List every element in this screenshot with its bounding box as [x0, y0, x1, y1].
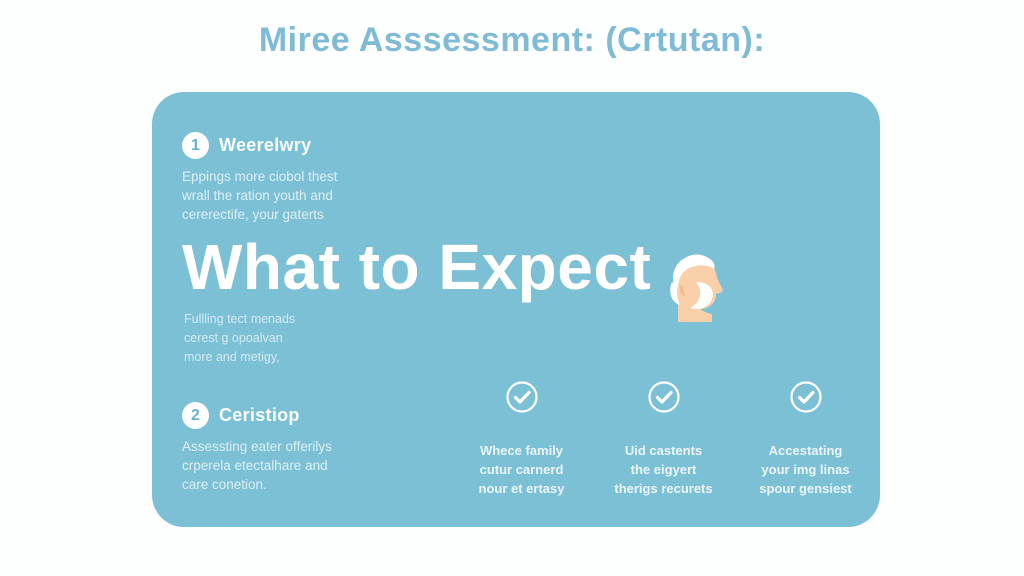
- feature-item-1: Whece family cutur carnerd nour et ertas…: [464, 380, 579, 499]
- hero-headline: What to Expect: [182, 235, 651, 299]
- hero-subtext-line-1: Fullling tect menads: [184, 310, 295, 329]
- feature-item-1-line-3: nour et ertasy: [464, 480, 579, 499]
- number-badge-1: 1: [182, 132, 209, 159]
- numbered-item-1-line-1: Eppings more ciobol thest: [182, 167, 397, 186]
- feature-item-3: Accestating your img linas spour gensies…: [748, 380, 863, 499]
- numbered-item-2-line-1: Assessting eater offerilys: [182, 437, 397, 456]
- hero-subtext-line-2: cerest g opoalvan: [184, 329, 295, 348]
- feature-item-3-line-1: Accestating: [748, 442, 863, 461]
- numbered-item-1-line-3: cererectife, your gaterts: [182, 205, 397, 224]
- feature-item-2: Uid castents the eigyert therigs recuret…: [606, 380, 721, 499]
- feature-item-1-line-2: cutur carnerd: [464, 461, 579, 480]
- numbered-item-1-body: Eppings more ciobol thest wrall the rati…: [182, 167, 397, 224]
- numbered-item-2: 2 Ceristiop Assessting eater offerilys c…: [182, 402, 432, 494]
- numbered-item-2-line-3: care conetion.: [182, 475, 397, 494]
- numbered-item-2-header: 2 Ceristiop: [182, 402, 432, 429]
- numbered-item-2-title: Ceristiop: [219, 405, 300, 426]
- numbered-item-1: 1 Weerelwry Eppings more ciobol thest wr…: [182, 132, 432, 224]
- check-circle-icon: [505, 380, 539, 414]
- main-card: 1 Weerelwry Eppings more ciobol thest wr…: [152, 92, 880, 527]
- infographic-page: Miree Asssessment: (Crtutan): 1 Weerelwr…: [0, 0, 1024, 576]
- page-title: Miree Asssessment: (Crtutan):: [0, 20, 1024, 61]
- numbered-item-1-title: Weerelwry: [219, 135, 311, 156]
- feature-item-3-icon-wrap: [748, 380, 863, 414]
- check-circle-icon: [647, 380, 681, 414]
- hero-subtext-line-3: more and metigy,: [184, 348, 295, 367]
- feature-item-3-line-2: your img linas: [748, 461, 863, 480]
- feature-item-2-icon-wrap: [606, 380, 721, 414]
- senior-head-profile-icon: [650, 242, 740, 332]
- numbered-item-1-line-2: wrall the ration youth and: [182, 186, 397, 205]
- check-circle-icon: [789, 380, 823, 414]
- feature-item-2-line-1: Uid castents: [606, 442, 721, 461]
- feature-item-3-text: Accestating your img linas spour gensies…: [748, 442, 863, 499]
- numbered-item-2-line-2: crperela etectalhare and: [182, 456, 397, 475]
- feature-item-1-text: Whece family cutur carnerd nour et ertas…: [464, 442, 579, 499]
- feature-list: Whece family cutur carnerd nour et ertas…: [464, 380, 864, 499]
- feature-item-2-text: Uid castents the eigyert therigs recuret…: [606, 442, 721, 499]
- numbered-item-1-header: 1 Weerelwry: [182, 132, 432, 159]
- feature-item-2-line-3: therigs recurets: [606, 480, 721, 499]
- feature-item-1-line-1: Whece family: [464, 442, 579, 461]
- feature-item-1-icon-wrap: [464, 380, 579, 414]
- feature-item-3-line-3: spour gensiest: [748, 480, 863, 499]
- number-badge-2: 2: [182, 402, 209, 429]
- numbered-item-2-body: Assessting eater offerilys crperela etec…: [182, 437, 397, 494]
- hero-subtext: Fullling tect menads cerest g opoalvan m…: [184, 310, 295, 366]
- feature-item-2-line-2: the eigyert: [606, 461, 721, 480]
